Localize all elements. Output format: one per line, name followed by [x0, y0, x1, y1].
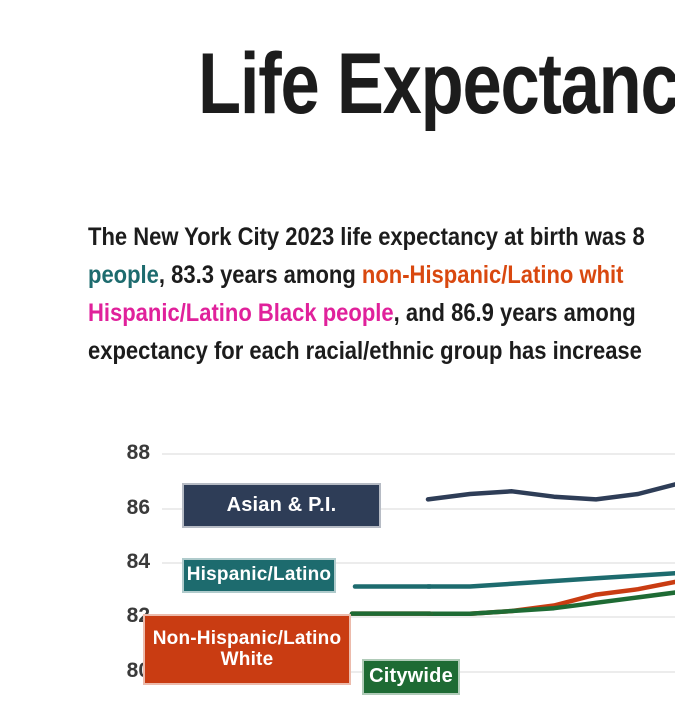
intro-line-2-mid: , 83.3 years among [159, 261, 362, 289]
intro-line-2: people, 83.3 years among non-Hispanic/La… [88, 256, 651, 294]
intro-highlight-non-hispanic-white: non-Hispanic/Latino whit [362, 261, 624, 289]
intro-paragraph: The New York City 2023 life expectancy a… [88, 218, 651, 370]
intro-line-4-text: expectancy for each racial/ethnic group … [88, 337, 642, 365]
series-label-citywide[interactable]: Citywide [362, 659, 460, 695]
series-line-asian-p-i [428, 483, 675, 499]
intro-line-3: Hispanic/Latino Black people, and 86.9 y… [88, 294, 651, 332]
intro-line-4: expectancy for each racial/ethnic group … [88, 332, 651, 370]
series-label-non-hispanic-latino-white[interactable]: Non-Hispanic/Latino White [143, 614, 351, 685]
series-line-citywide [428, 592, 675, 614]
intro-highlight-non-hispanic-black: Hispanic/Latino Black people [88, 299, 394, 327]
intro-line-3-mid: , and 86.9 years among [394, 299, 636, 327]
series-label-asian-pi[interactable]: Asian & P.I. [182, 483, 381, 528]
page-title: Life Expectanc [198, 36, 675, 132]
series-label-hispanic-latino[interactable]: Hispanic/Latino [182, 558, 336, 593]
title-bar: Life Expectanc [0, 0, 675, 200]
intro-line-1-text: The New York City 2023 life expectancy a… [88, 223, 645, 251]
series-line-hispanic-latino [428, 573, 675, 587]
intro-highlight-hispanic-latino: people [88, 261, 159, 289]
intro-line-1: The New York City 2023 life expectancy a… [88, 218, 651, 256]
